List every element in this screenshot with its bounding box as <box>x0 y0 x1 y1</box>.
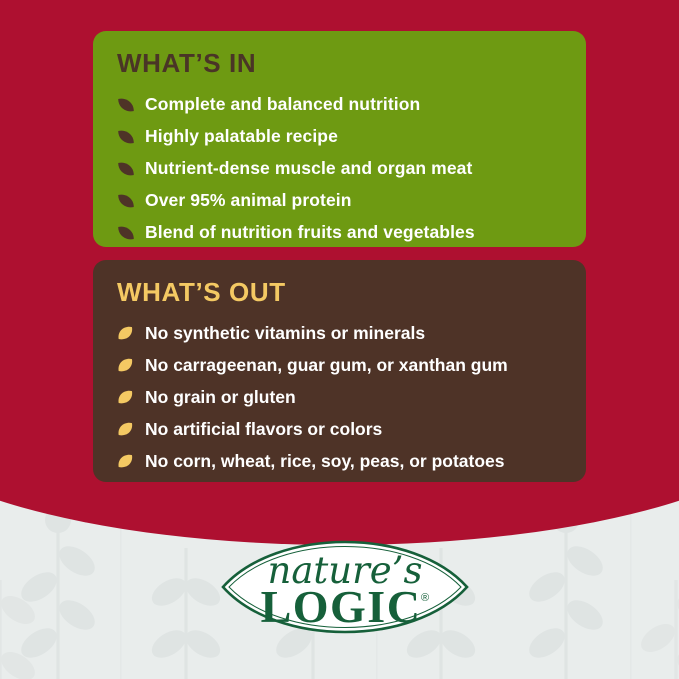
list-item: No synthetic vitamins or minerals <box>115 321 564 347</box>
leaf-icon <box>115 190 137 212</box>
brand-logo: nature’s LOGIC ® <box>219 521 471 653</box>
panel-whats-out: WHAT’S OUT No synthetic vitamins or mine… <box>93 260 586 482</box>
panel-whats-in-title: WHAT’S IN <box>117 49 564 78</box>
whats-in-list: Complete and balanced nutrition Highly p… <box>115 92 564 246</box>
infographic-canvas: WHAT’S IN Complete and balanced nutritio… <box>0 0 679 679</box>
list-item: No grain or gluten <box>115 385 564 411</box>
whats-out-list: No synthetic vitamins or minerals No car… <box>115 321 564 475</box>
list-item: No carrageenan, guar gum, or xanthan gum <box>115 353 564 379</box>
leaf-icon <box>115 451 137 473</box>
list-item: No corn, wheat, rice, soy, peas, or pota… <box>115 449 564 475</box>
leaf-icon <box>115 355 137 377</box>
list-item-label: Nutrient-dense muscle and organ meat <box>145 158 472 180</box>
list-item: Over 95% animal protein <box>115 188 564 214</box>
logo-wordmark-text: LOGIC <box>261 581 422 632</box>
list-item-label: No grain or gluten <box>145 387 296 409</box>
leaf-icon <box>115 158 137 180</box>
list-item: Complete and balanced nutrition <box>115 92 564 118</box>
list-item-label: Highly palatable recipe <box>145 126 338 148</box>
panel-whats-in: WHAT’S IN Complete and balanced nutritio… <box>93 31 586 247</box>
list-item-label: No artificial flavors or colors <box>145 419 382 441</box>
list-item-label: Over 95% animal protein <box>145 190 352 212</box>
leaf-icon <box>115 419 137 441</box>
list-item-label: No synthetic vitamins or minerals <box>145 323 425 345</box>
list-item: Highly palatable recipe <box>115 124 564 150</box>
leaf-icon <box>115 126 137 148</box>
list-item-label: Complete and balanced nutrition <box>145 94 420 116</box>
list-item-label: No corn, wheat, rice, soy, peas, or pota… <box>145 451 505 473</box>
list-item: Blend of nutrition fruits and vegetables <box>115 220 564 246</box>
leaf-icon <box>115 94 137 116</box>
list-item-label: Blend of nutrition fruits and vegetables <box>145 222 475 244</box>
registered-trademark-icon: ® <box>421 592 429 604</box>
leaf-icon <box>115 323 137 345</box>
list-item-label: No carrageenan, guar gum, or xanthan gum <box>145 355 508 377</box>
list-item: Nutrient-dense muscle and organ meat <box>115 156 564 182</box>
logo-leaf-icon: nature’s LOGIC ® <box>219 521 471 653</box>
leaf-icon <box>115 222 137 244</box>
panel-whats-out-title: WHAT’S OUT <box>117 278 564 307</box>
list-item: No artificial flavors or colors <box>115 417 564 443</box>
leaf-icon <box>115 387 137 409</box>
